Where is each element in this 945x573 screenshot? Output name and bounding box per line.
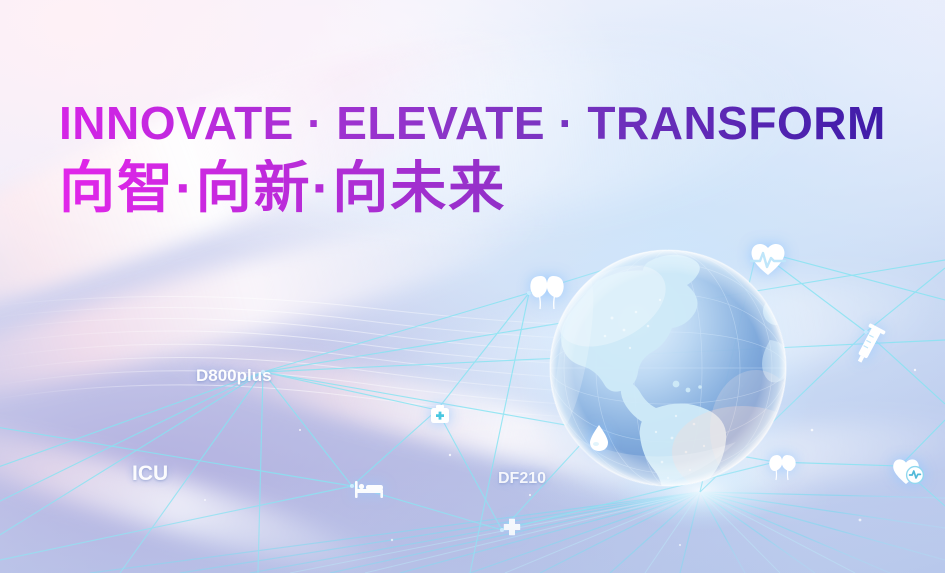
headline-block: INNOVATE · ELEVATE · TRANSFORM 向智·向新·向未来 [59,100,886,218]
label-d800plus: D800plus [196,366,272,386]
ripple-texture [0,0,945,573]
kidneys-icon [524,272,570,312]
syringe-icon [852,322,886,366]
water-drop-icon [588,424,610,452]
kidneys-small-icon [765,452,799,482]
page-title-cn: 向智·向新·向未来 [59,159,886,218]
heart-monitor-icon [890,455,926,487]
medical-cross-icon [502,518,522,538]
hero-banner: INNOVATE · ELEVATE · TRANSFORM 向智·向新·向未来… [0,0,945,573]
label-df210: DF210 [498,470,546,488]
light-streak [326,252,945,444]
light-streak [152,321,837,533]
hospital-bed-icon [354,479,384,499]
light-streak [518,406,945,515]
medical-kit-icon [429,403,451,425]
page-title-en: INNOVATE · ELEVATE · TRANSFORM [59,100,886,146]
network-mesh [0,0,945,573]
foreground-haze [0,0,945,573]
earth-globe [0,0,945,573]
light-streak [0,399,397,573]
heart-pulse-icon [748,240,788,278]
label-icu: ICU [132,462,168,486]
